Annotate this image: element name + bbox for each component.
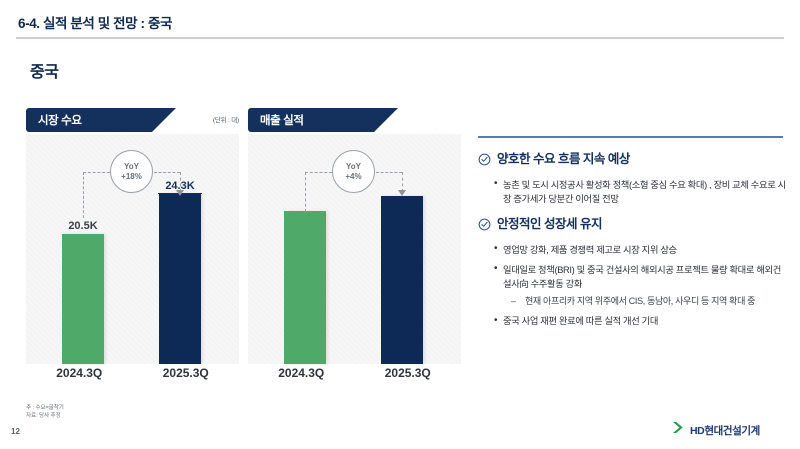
yoy-arrow-head-1 [398,190,406,196]
axis-label-2025-3q-0: 2025.3Q [133,366,240,380]
insight-heading-2: 안정적인 성장세 유지 [497,217,602,232]
sub-bullet-item: 현재 아프리카 지역 위주에서 CIS, 동남아, 사우디 등 지역 확대 중 [511,295,788,309]
insight-group-1: 양호한 수요 흐름 지속 예상 농촌 및 도시 시정공사 활성화 정책(소형 중… [478,152,788,206]
logo-text: HD현대건설기계 [690,423,760,438]
yoy-connector-left-0 [83,172,84,218]
yoy-value-1: +4% [345,172,361,182]
bullet-text: 영업망 강화, 제품 경쟁력 제고로 시장 지위 상승 [503,245,677,255]
title-divider [16,37,784,39]
bullet-item: 일대일로 정책(BRI) 및 중국 건설사의 해외시공 프로젝트 물량 확대로 … [494,263,788,309]
insight-bullets-2: 영업망 강화, 제품 경쟁력 제고로 시장 지위 상승 일대일로 정책(BRI)… [494,243,788,329]
yoy-connector-top-right-1 [376,172,402,173]
page-title: 6-4. 실적 분석 및 전망 : 중국 [18,12,172,32]
section-heading: 중국 [30,58,58,82]
bar-2025-3q-0 [159,194,201,364]
yoy-connector-top-left-0 [83,172,110,173]
axis-labels-0: 2024.3Q 2025.3Q [26,366,239,380]
insights-panel: 양호한 수요 흐름 지속 예상 농촌 및 도시 시정공사 활성화 정책(소형 중… [478,136,788,339]
footnote-line-2: 자료: 당사 추정 [26,412,64,420]
bullet-text: 중국 사업 재편 완료에 따른 실적 개선 기대 [503,316,658,326]
circle-check-icon [478,218,491,236]
bar-2024-3q-1 [284,211,326,364]
axis-label-2025-3q-1: 2025.3Q [355,366,462,380]
bullet-text: 일대일로 정책(BRI) 및 중국 건설사의 해외시공 프로젝트 물량 확대로 … [503,265,781,289]
sub-bullets: 현재 아프리카 지역 위주에서 CIS, 동남아, 사우디 등 지역 확대 중 [511,295,788,309]
insight-bullets-1: 농촌 및 도시 시정공사 활성화 정책(소형 중심 수요 확대) , 장비 교체… [494,178,788,206]
plot-area-1: YoY +4% [248,134,461,364]
panel-divider [478,136,783,138]
yoy-arrow-head-0 [176,190,184,196]
yoy-value-0: +18% [121,172,142,182]
insight-heading-1: 양호한 수요 흐름 지속 예상 [497,152,630,167]
yoy-badge-0: YoY +18% [110,150,153,193]
bar-value-2024-3q-0: 20.5K [48,220,118,232]
yoy-connector-top-left-1 [305,172,332,173]
axis-label-2024-3q-0: 2024.3Q [26,366,133,380]
chart-sales-performance: 매출 실적 YoY +4% 2024.3Q 2025.3Q [248,108,461,393]
insight-heading-row-1: 양호한 수요 흐름 지속 예상 [478,152,788,171]
bar-2025-3q-1 [381,196,423,364]
chart-banner-0: 시장 수요 [26,108,176,132]
chart-unit-label-0: (단위 : 대) [213,114,239,124]
bullet-item: 영업망 강화, 제품 경쟁력 제고로 시장 지위 상승 [494,243,788,257]
yoy-connector-right-0 [180,172,181,192]
chart-market-demand: 시장 수요 (단위 : 대) 20.5K 24.3K YoY +18% 2024… [26,108,239,393]
yoy-connector-left-1 [305,172,306,212]
yoy-connector-right-1 [402,172,403,192]
page-number: 12 [11,427,20,436]
footnotes: 주 : 수요=굴착기 자료: 당사 추정 [26,404,64,420]
bullet-item: 농촌 및 도시 시정공사 활성화 정책(소형 중심 수요 확대) , 장비 교체… [494,178,788,206]
chevron-right-icon [672,421,686,439]
yoy-label-0: YoY [124,162,139,172]
circle-check-icon [478,153,491,171]
axis-labels-1: 2024.3Q 2025.3Q [248,366,461,380]
yoy-badge-1: YoY +4% [332,150,375,193]
bullet-item: 중국 사업 재편 완료에 따른 실적 개선 기대 [494,314,788,328]
insight-heading-row-2: 안정적인 성장세 유지 [478,217,788,236]
insight-group-2: 안정적인 성장세 유지 영업망 강화, 제품 경쟁력 제고로 시장 지위 상승 … [478,217,788,329]
bar-2024-3q-0 [62,234,104,364]
yoy-label-1: YoY [346,162,361,172]
plot-area-0: 20.5K 24.3K YoY +18% [26,134,239,364]
footnote-line-1: 주 : 수요=굴착기 [26,404,64,412]
yoy-connector-top-right-0 [154,172,180,173]
company-logo: HD현대건설기계 [672,421,760,439]
axis-label-2024-3q-1: 2024.3Q [248,366,355,380]
chart-banner-1: 매출 실적 [248,108,398,132]
